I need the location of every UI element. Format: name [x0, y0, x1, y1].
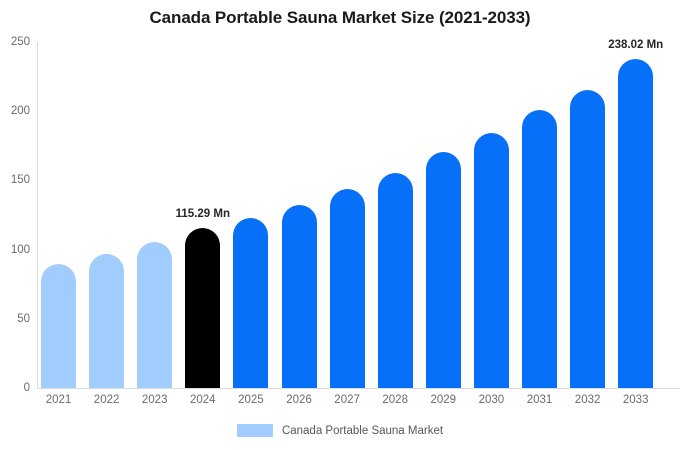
x-axis-tick-label: 2026: [286, 394, 312, 406]
bar-value-label-2024: 115.29 Mn: [176, 208, 230, 220]
bar-2023[interactable]: [137, 242, 172, 388]
x-axis-tick-label: 2023: [142, 394, 168, 406]
bar-2030[interactable]: [474, 133, 509, 388]
bar-2022[interactable]: [89, 254, 124, 388]
bar-2021[interactable]: [41, 264, 76, 388]
legend-swatch: [237, 424, 273, 437]
y-axis-tick-label: 200: [0, 105, 30, 117]
y-axis-tick-label: 0: [0, 382, 30, 394]
x-axis-tick-label: 2022: [94, 394, 120, 406]
bar-2026[interactable]: [282, 205, 317, 388]
bar-2025[interactable]: [233, 218, 268, 388]
bar-2033[interactable]: [618, 59, 653, 388]
x-axis-tick-label: 2031: [527, 394, 553, 406]
y-axis-tick-label: 100: [0, 244, 30, 256]
chart-legend: Canada Portable Sauna Market: [0, 424, 680, 437]
x-axis-tick-label: 2021: [46, 394, 72, 406]
bar-2024[interactable]: [185, 228, 220, 388]
x-axis-line: [37, 388, 680, 389]
y-axis-line: [37, 42, 38, 389]
x-axis-tick-label: 2032: [575, 394, 601, 406]
legend-label[interactable]: Canada Portable Sauna Market: [282, 425, 443, 437]
bar-2032[interactable]: [570, 90, 605, 388]
x-axis-tick-label: 2027: [334, 394, 360, 406]
y-axis-tick-label: 150: [0, 174, 30, 186]
bar-2029[interactable]: [426, 152, 461, 388]
x-axis-tick-label: 2030: [479, 394, 505, 406]
x-axis-tick-label: 2025: [238, 394, 264, 406]
plot-area: 0501001502002502021202220232024202520262…: [0, 0, 680, 450]
bar-2028[interactable]: [378, 173, 413, 388]
y-axis-tick-label: 250: [0, 36, 30, 48]
x-axis-tick-label: 2033: [623, 394, 649, 406]
bar-value-label-2033: 238.02 Mn: [608, 39, 663, 51]
bar-2031[interactable]: [522, 110, 557, 388]
chart-container: Canada Portable Sauna Market Size (2021-…: [0, 0, 680, 450]
x-axis-tick-label: 2029: [431, 394, 457, 406]
y-axis-tick-label: 50: [0, 313, 30, 325]
bar-2027[interactable]: [330, 189, 365, 388]
x-axis-tick-label: 2024: [190, 394, 216, 406]
x-axis-tick-label: 2028: [382, 394, 408, 406]
